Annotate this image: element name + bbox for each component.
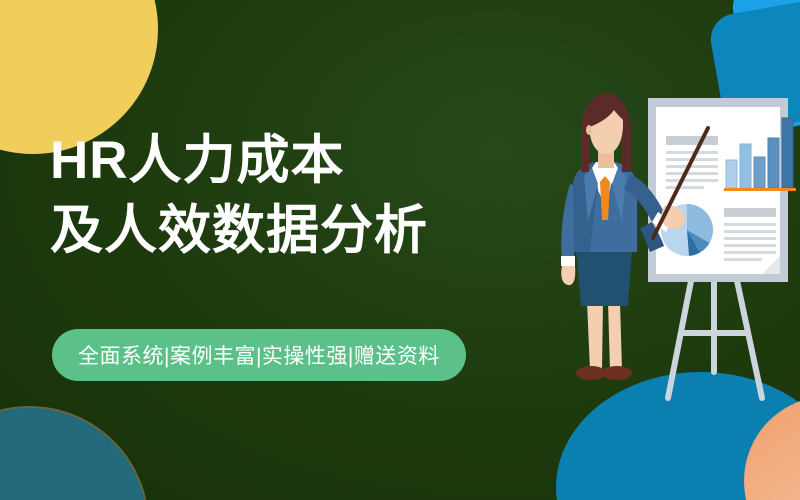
presenter-legs [587,302,603,370]
presenter-ear [586,125,592,135]
easel-legs [668,276,762,398]
presenter-skirt [576,248,632,306]
promo-banner: HR人力成本 及人效数据分析 全面系统|案例丰富|实操性强|赠送资料 [0,0,800,500]
presenter-left-hand [561,266,575,285]
headline-block: HR人力成本 及人效数据分析 [50,128,520,263]
page-title-line-1: HR人力成本 [50,128,520,194]
subtitle-text: 全面系统|案例丰富|实操性强|赠送资料 [78,340,440,370]
bar-chart-baseline [724,188,796,191]
presenter-shoe-right [602,366,632,380]
presenter-shoe-left [576,366,606,380]
page-title-line-2: 及人效数据分析 [50,198,520,264]
subtitle-badge: 全面系统|案例丰富|实操性强|赠送资料 [52,329,466,381]
presenter-illustration [540,80,800,420]
presenter-left-cuff [561,256,575,266]
